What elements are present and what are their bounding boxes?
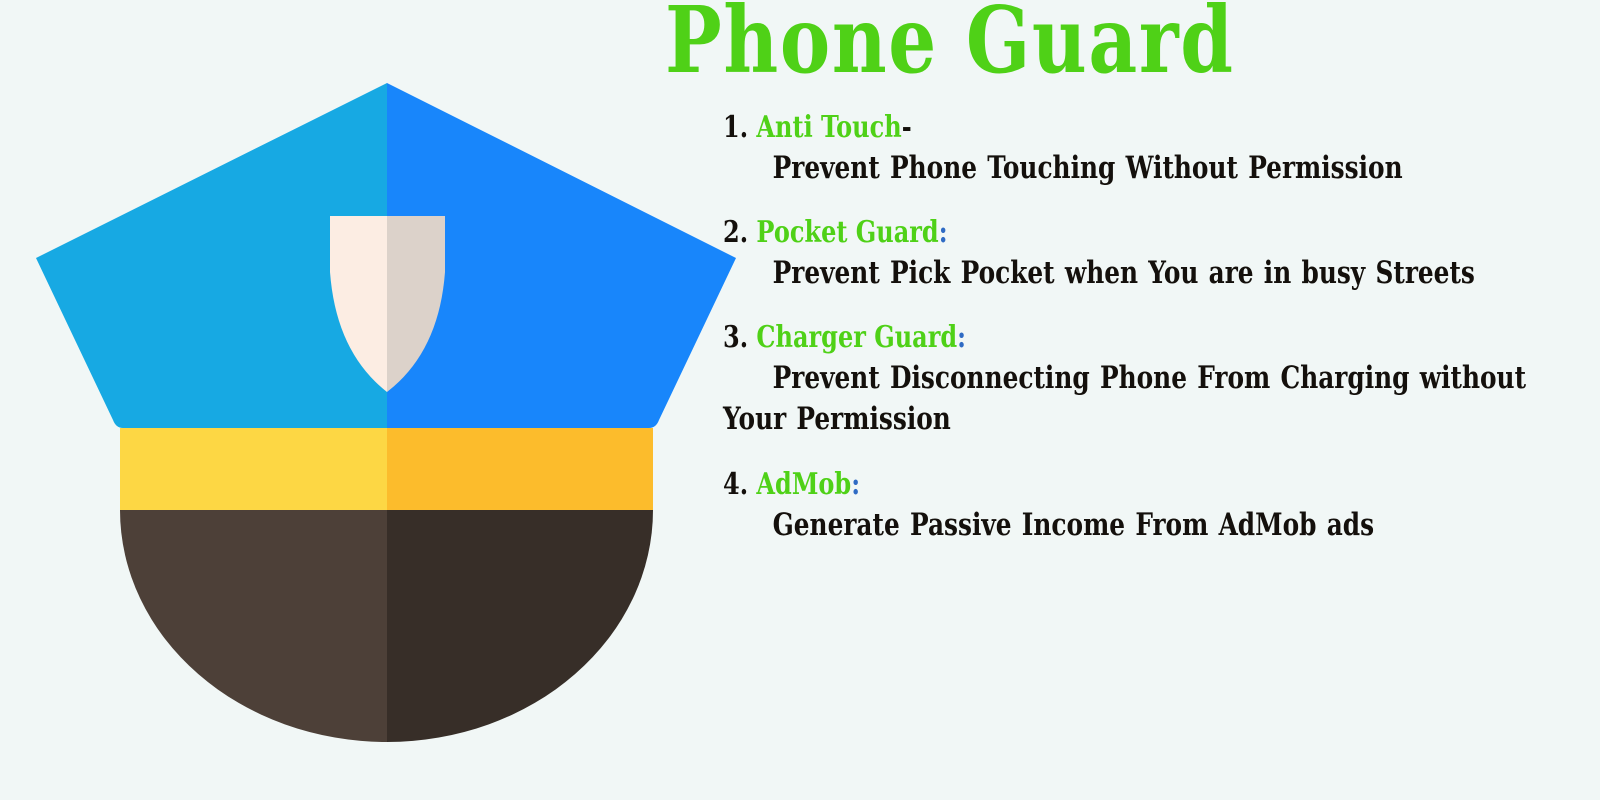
- feature-item-charger-guard: 3. Charger Guard: Prevent Disconnecting …: [723, 318, 1583, 441]
- feature-list: 1. Anti Touch- Prevent Phone Touching Wi…: [723, 108, 1583, 546]
- feature-description-text: Prevent Pick Pocket when You are in busy…: [773, 255, 1475, 291]
- feature-description-line: Prevent Disconnecting Phone From Chargin…: [723, 358, 1587, 400]
- feature-description-text: Your Permission: [723, 401, 951, 437]
- cap-band-right: [387, 428, 653, 510]
- feature-number: 3.: [723, 320, 748, 355]
- feature-description-text: Prevent Phone Touching Without Permissio…: [773, 150, 1403, 186]
- feature-name: AdMob: [756, 467, 851, 502]
- feature-punct: :: [939, 215, 948, 250]
- feature-description-line: Your Permission: [723, 399, 1587, 441]
- feature-name: Charger Guard: [756, 320, 957, 355]
- feature-name: Anti Touch: [756, 110, 901, 145]
- feature-punct: :: [851, 467, 860, 502]
- feature-description-line: Generate Passive Income From AdMob ads: [723, 505, 1587, 547]
- feature-name: Pocket Guard: [756, 215, 938, 250]
- feature-description-line: Prevent Pick Pocket when You are in busy…: [723, 253, 1587, 295]
- feature-heading: 4. AdMob:: [723, 465, 1411, 505]
- feature-description: Prevent Pick Pocket when You are in busy…: [723, 253, 1587, 295]
- feature-heading: 2. Pocket Guard:: [723, 213, 1411, 253]
- feature-punct: :: [957, 320, 966, 355]
- feature-item-pocket-guard: 2. Pocket Guard: Prevent Pick Pocket whe…: [723, 213, 1583, 294]
- feature-heading: 3. Charger Guard:: [723, 318, 1411, 358]
- feature-description: Prevent Phone Touching Without Permissio…: [723, 148, 1587, 190]
- feature-number: 2.: [723, 215, 748, 250]
- poster-canvas: Phone Guard 1. Anti Touch- Prevent Phone…: [0, 0, 1600, 800]
- feature-description-text: Prevent Disconnecting Phone From Chargin…: [773, 360, 1526, 396]
- feature-description: Prevent Disconnecting Phone From Chargin…: [723, 358, 1587, 441]
- cap-brim-right: [387, 510, 653, 742]
- feature-number: 1.: [723, 110, 748, 145]
- cap-brim-left: [120, 510, 387, 742]
- cap-band-left: [120, 428, 387, 510]
- feature-item-anti-touch: 1. Anti Touch- Prevent Phone Touching Wi…: [723, 108, 1583, 189]
- feature-description: Generate Passive Income From AdMob ads: [723, 505, 1587, 547]
- police-cap-illustration: [0, 0, 780, 800]
- page-title: Phone Guard: [665, 0, 1075, 86]
- feature-number: 4.: [723, 467, 748, 502]
- feature-heading: 1. Anti Touch-: [723, 108, 1411, 148]
- feature-item-admob: 4. AdMob: Generate Passive Income From A…: [723, 465, 1583, 546]
- feature-description-text: Generate Passive Income From AdMob ads: [773, 507, 1375, 543]
- feature-punct: -: [902, 110, 912, 145]
- feature-description-line: Prevent Phone Touching Without Permissio…: [723, 148, 1587, 190]
